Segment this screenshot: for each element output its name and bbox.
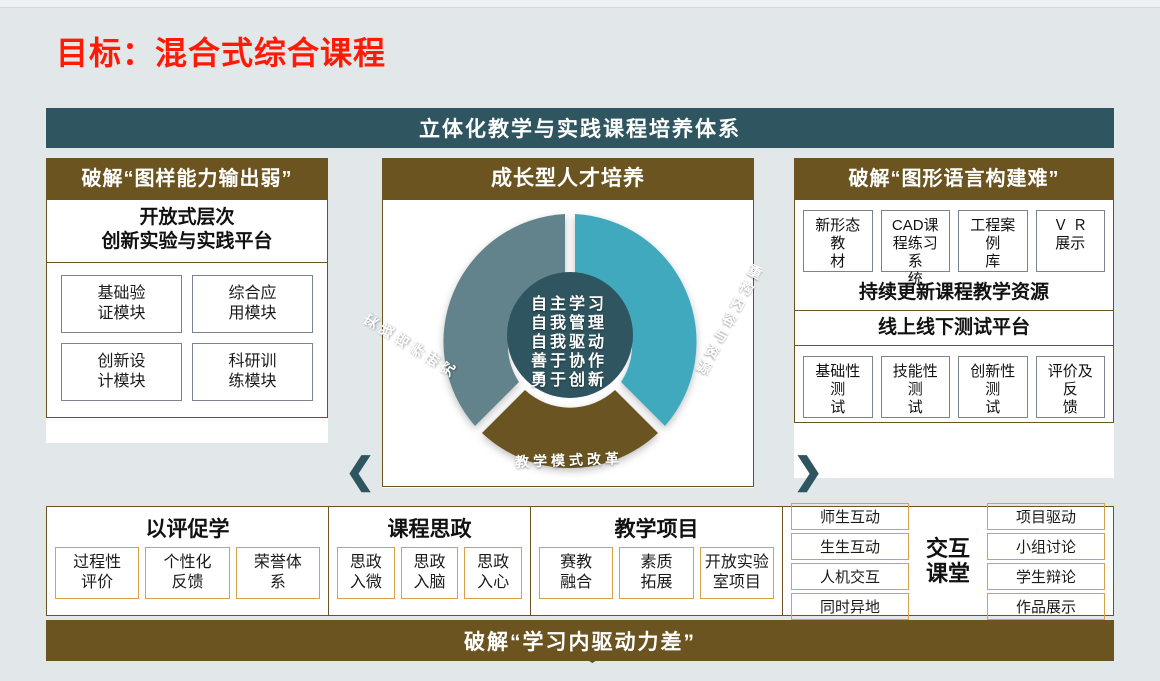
diagram-columns: 破解“图样能力输出弱” 开放式层次 创新实验与实践平台 基础验证模块 综合应用模…	[46, 158, 1114, 498]
resource-box[interactable]: 工程案例库	[958, 210, 1028, 272]
interactive-item[interactable]: 项目驱动	[987, 503, 1105, 530]
donut-diagram: 自主学习 自我管理 自我驱动 善于协作 勇于创新 实践培养研究 重构内容与资源 …	[383, 200, 755, 486]
donut-center-disc	[507, 272, 633, 398]
donut-svg	[424, 204, 714, 482]
center-panel-body: 自主学习 自我管理 自我驱动 善于协作 勇于创新 实践培养研究 重构内容与资源 …	[382, 200, 754, 487]
section-interactive-classroom: 师生互动 生生互动 人机交互 同时异地 交互课堂 项目驱动 小组讨论 学生辩论 …	[783, 507, 1113, 615]
left-panel-header: 破解“图样能力输出弱”	[46, 158, 328, 200]
right-panel-band-testing: 线上线下测试平台	[795, 311, 1113, 346]
ideology-item[interactable]: 思政入微	[337, 547, 395, 599]
left-panel-modules: 基础验证模块 综合应用模块 创新设计模块 科研训练模块	[47, 263, 327, 417]
section-evaluation-title: 以评促学	[47, 507, 328, 547]
chevron-left-icon: ❮	[345, 453, 375, 489]
left-panel-subtitle-line1: 开放式层次	[51, 206, 323, 230]
right-panel-tests: 基础性测试 技能性测试 创新性测试 评价及反馈	[795, 346, 1113, 422]
interactive-item[interactable]: 小组讨论	[987, 533, 1105, 560]
interactive-item[interactable]: 作品展示	[987, 593, 1105, 620]
left-panel-subtitle: 开放式层次 创新实验与实践平台	[47, 200, 327, 263]
section-evaluation: 以评促学 过程性评价 个性化反馈 荣誉体系	[47, 507, 329, 615]
center-panel: 成长型人才培养	[382, 158, 754, 488]
module-box[interactable]: 科研训练模块	[192, 343, 313, 401]
resource-box[interactable]: Ｖ Ｒ展示	[1036, 210, 1106, 272]
section-ideology: 课程思政 思政入微 思政入脑 思政入心	[329, 507, 531, 615]
project-item[interactable]: 赛教融合	[539, 547, 613, 599]
module-box[interactable]: 综合应用模块	[192, 275, 313, 333]
test-box[interactable]: 评价及反馈	[1036, 356, 1106, 418]
chevron-right-icon: ❯	[793, 453, 823, 489]
module-box[interactable]: 基础验证模块	[61, 275, 182, 333]
project-item[interactable]: 开放实验室项目	[700, 547, 774, 599]
interactive-right-column: 项目驱动 小组讨论 学生辩论 作品展示	[987, 503, 1105, 620]
test-box[interactable]: 技能性测试	[881, 356, 951, 418]
interactive-item[interactable]: 人机交互	[791, 563, 909, 590]
left-panel: 破解“图样能力输出弱” 开放式层次 创新实验与实践平台 基础验证模块 综合应用模…	[46, 158, 328, 443]
page-title: 目标：混合式综合课程	[56, 28, 386, 74]
left-panel-subtitle-line2: 创新实验与实践平台	[51, 230, 323, 254]
evaluation-item[interactable]: 个性化反馈	[145, 547, 229, 599]
right-panel-header: 破解“图形语言构建难”	[794, 158, 1114, 200]
ideology-item[interactable]: 思政入脑	[401, 547, 459, 599]
section-teaching-projects-items: 赛教融合 素质拓展 开放实验室项目	[531, 547, 782, 607]
right-panel: 破解“图形语言构建难” 新形态教材 CAD课程练习系统 工程案例库 Ｖ Ｒ展示 …	[794, 158, 1114, 478]
diagram-footer-title: 破解“学习内驱动力差”	[46, 620, 1114, 661]
resource-box[interactable]: CAD课程练习系统	[881, 210, 951, 272]
center-panel-header: 成长型人才培养	[382, 158, 754, 200]
right-panel-body: 新形态教材 CAD课程练习系统 工程案例库 Ｖ Ｒ展示 持续更新课程教学资源 线…	[794, 200, 1114, 423]
bottom-sections: 以评促学 过程性评价 个性化反馈 荣誉体系 课程思政 思政入微 思政入脑 思政入…	[46, 506, 1114, 616]
project-item[interactable]: 素质拓展	[619, 547, 693, 599]
interactive-item[interactable]: 生生互动	[791, 533, 909, 560]
section-ideology-title: 课程思政	[329, 507, 530, 547]
interactive-left-column: 师生互动 生生互动 人机交互 同时异地	[791, 503, 909, 620]
evaluation-item[interactable]: 荣誉体系	[236, 547, 320, 599]
section-interactive-classroom-title: 交互课堂	[915, 536, 981, 587]
section-teaching-projects-title: 教学项目	[531, 507, 782, 547]
left-panel-body: 开放式层次 创新实验与实践平台 基础验证模块 综合应用模块 创新设计模块 科研训…	[46, 200, 328, 418]
ideology-item[interactable]: 思政入心	[464, 547, 522, 599]
right-panel-band-resources: 持续更新课程教学资源	[795, 276, 1113, 311]
section-ideology-items: 思政入微 思政入脑 思政入心	[329, 547, 530, 607]
interactive-item[interactable]: 学生辩论	[987, 563, 1105, 590]
arc-label-bottom: 教学模式改革	[515, 448, 624, 472]
module-box[interactable]: 创新设计模块	[61, 343, 182, 401]
window-top-strip	[0, 0, 1160, 8]
right-panel-resources: 新形态教材 CAD课程练习系统 工程案例库 Ｖ Ｒ展示	[795, 200, 1113, 276]
interactive-item[interactable]: 同时异地	[791, 593, 909, 620]
interactive-item[interactable]: 师生互动	[791, 503, 909, 530]
section-evaluation-items: 过程性评价 个性化反馈 荣誉体系	[47, 547, 328, 607]
diagram-root: 立体化教学与实践课程培养体系 破解“图样能力输出弱” 开放式层次 创新实验与实践…	[46, 108, 1114, 661]
resource-box[interactable]: 新形态教材	[803, 210, 873, 272]
evaluation-item[interactable]: 过程性评价	[55, 547, 139, 599]
section-teaching-projects: 教学项目 赛教融合 素质拓展 开放实验室项目	[531, 507, 783, 615]
test-box[interactable]: 创新性测试	[958, 356, 1028, 418]
test-box[interactable]: 基础性测试	[803, 356, 873, 418]
diagram-band-title: 立体化教学与实践课程培养体系	[46, 108, 1114, 148]
